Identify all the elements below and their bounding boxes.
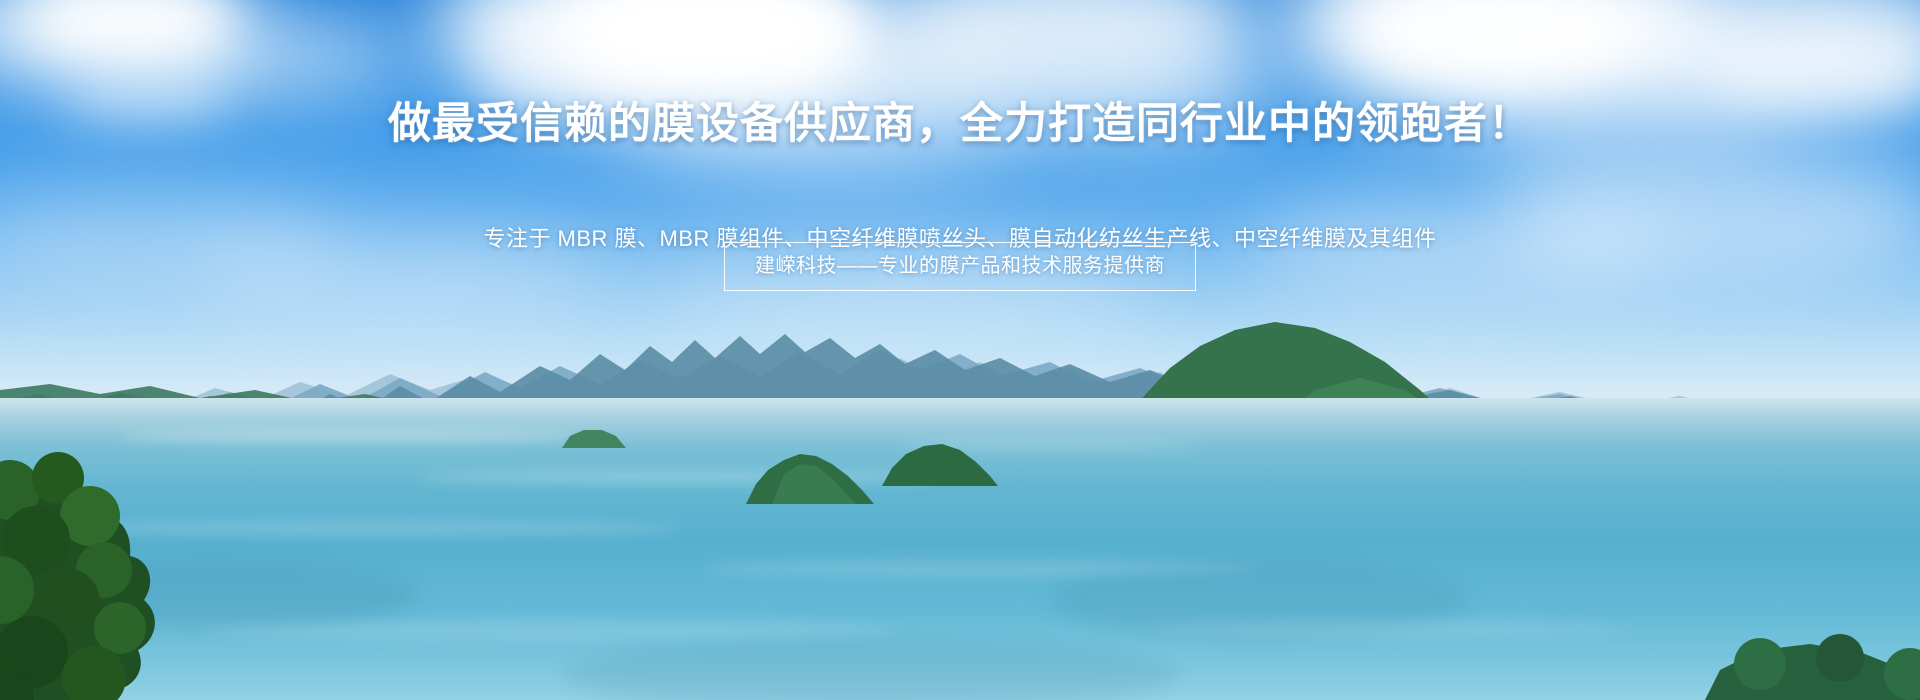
island-small [880,430,1000,492]
foreground-foliage-right [1700,600,1920,700]
page-title: 做最受信赖的膜设备供应商，全力打造同行业中的领跑者！ [0,98,1920,150]
island-tiny [560,424,630,450]
tagline-badge: 建嵘科技——专业的膜产品和技术服务提供商 [724,242,1196,291]
hero-banner: 做最受信赖的膜设备供应商，全力打造同行业中的领跑者！ 专注于 MBR 膜、MBR… [0,0,1920,700]
foreground-foliage [0,420,260,700]
tagline-container: 建嵘科技——专业的膜产品和技术服务提供商 [0,242,1920,291]
island-large [742,438,882,510]
